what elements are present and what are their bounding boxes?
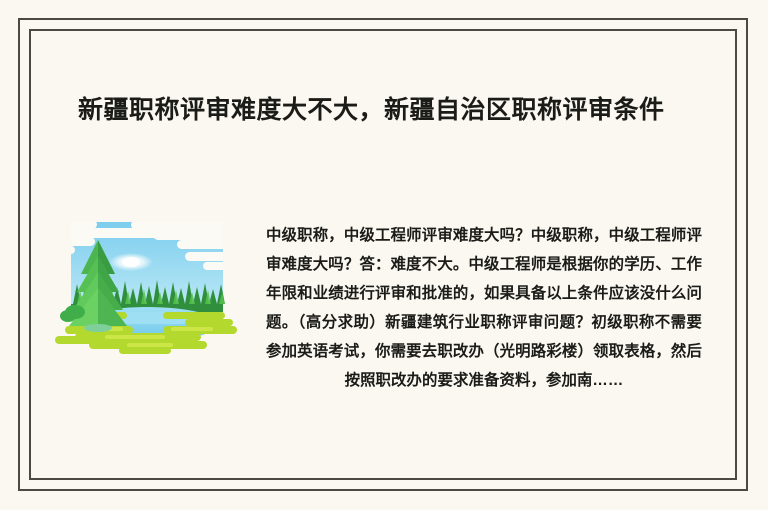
sun-icon [109,253,153,271]
page-title: 新疆职称评审难度大不大，新疆自治区职称评审条件 [78,93,690,127]
article-body: 中级职称，中级工程师评审难度大吗？中级职称，中级工程师评审难度大吗？答：难度不大… [266,221,702,395]
forest-lake-landscape-illustration [35,216,241,354]
page-root: 新疆职称评审难度大不大，新疆自治区职称评审条件 [0,0,768,510]
